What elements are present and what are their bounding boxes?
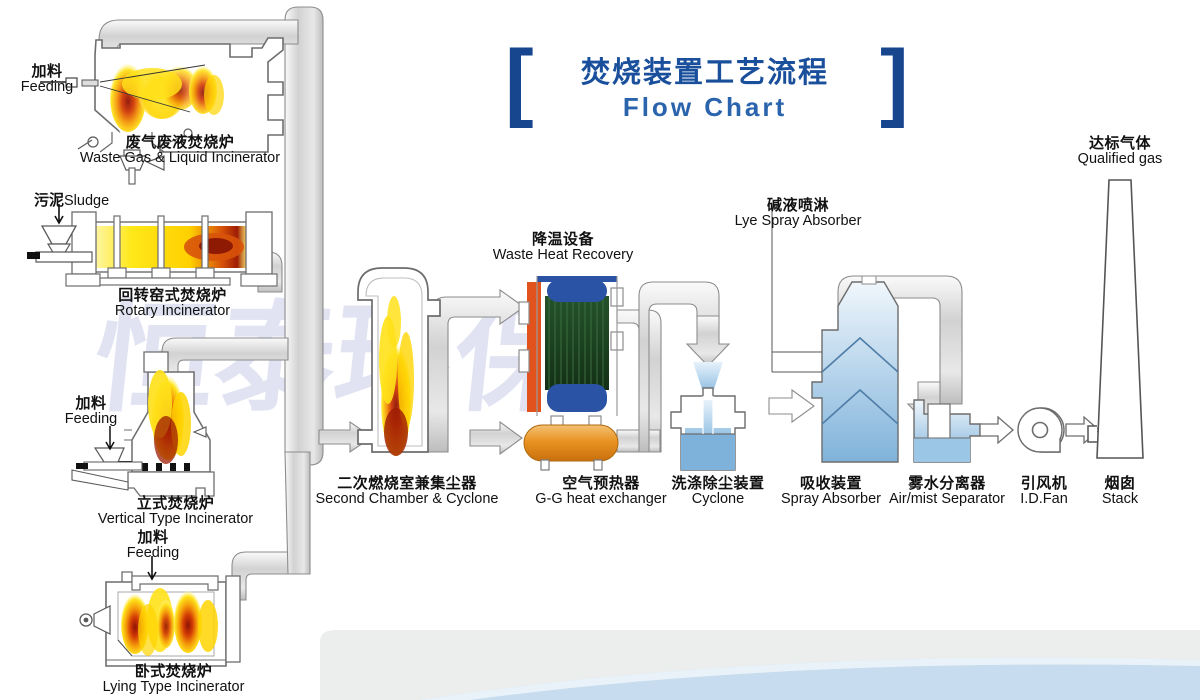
stack-graphic xyxy=(1088,180,1143,458)
spray-absorber-graphic xyxy=(772,212,898,462)
air-mist-separator-graphic xyxy=(914,400,980,462)
duct-arrow-to-gg-heat-exchanger xyxy=(470,422,522,454)
waste-gas-liquid-incinerator-graphic xyxy=(40,38,283,184)
rotary-incinerator-graphic xyxy=(27,204,277,286)
duct-riser-bottom-leg xyxy=(285,452,310,574)
duct-cyclone-inlet-arrow xyxy=(687,316,729,366)
page-title: 焚烧装置工艺流程 Flow Chart xyxy=(500,45,910,155)
gg-heat-exchanger-graphic xyxy=(524,425,618,470)
flow-chart-diagram: 恒泰环保 xyxy=(0,0,1200,700)
duct-lying-outlet xyxy=(232,552,290,600)
waste-heat-recovery-graphic xyxy=(519,276,623,428)
cyclone-scrubber-graphic xyxy=(671,362,745,470)
lying-type-incinerator-graphic xyxy=(80,556,240,666)
id-fan-graphic xyxy=(980,408,1099,452)
duct-arrow-cyclone-to-absorber xyxy=(769,390,814,422)
second-chamber-cyclone-graphic xyxy=(358,268,440,456)
arrow-separator-to-fan xyxy=(980,417,1013,443)
bottom-decoration xyxy=(320,630,1200,700)
duct-main-riser xyxy=(285,7,323,465)
page-title-en: Flow Chart xyxy=(500,92,910,123)
page-title-cn: 焚烧装置工艺流程 xyxy=(500,57,910,90)
vertical-type-incinerator-graphic xyxy=(72,352,214,496)
